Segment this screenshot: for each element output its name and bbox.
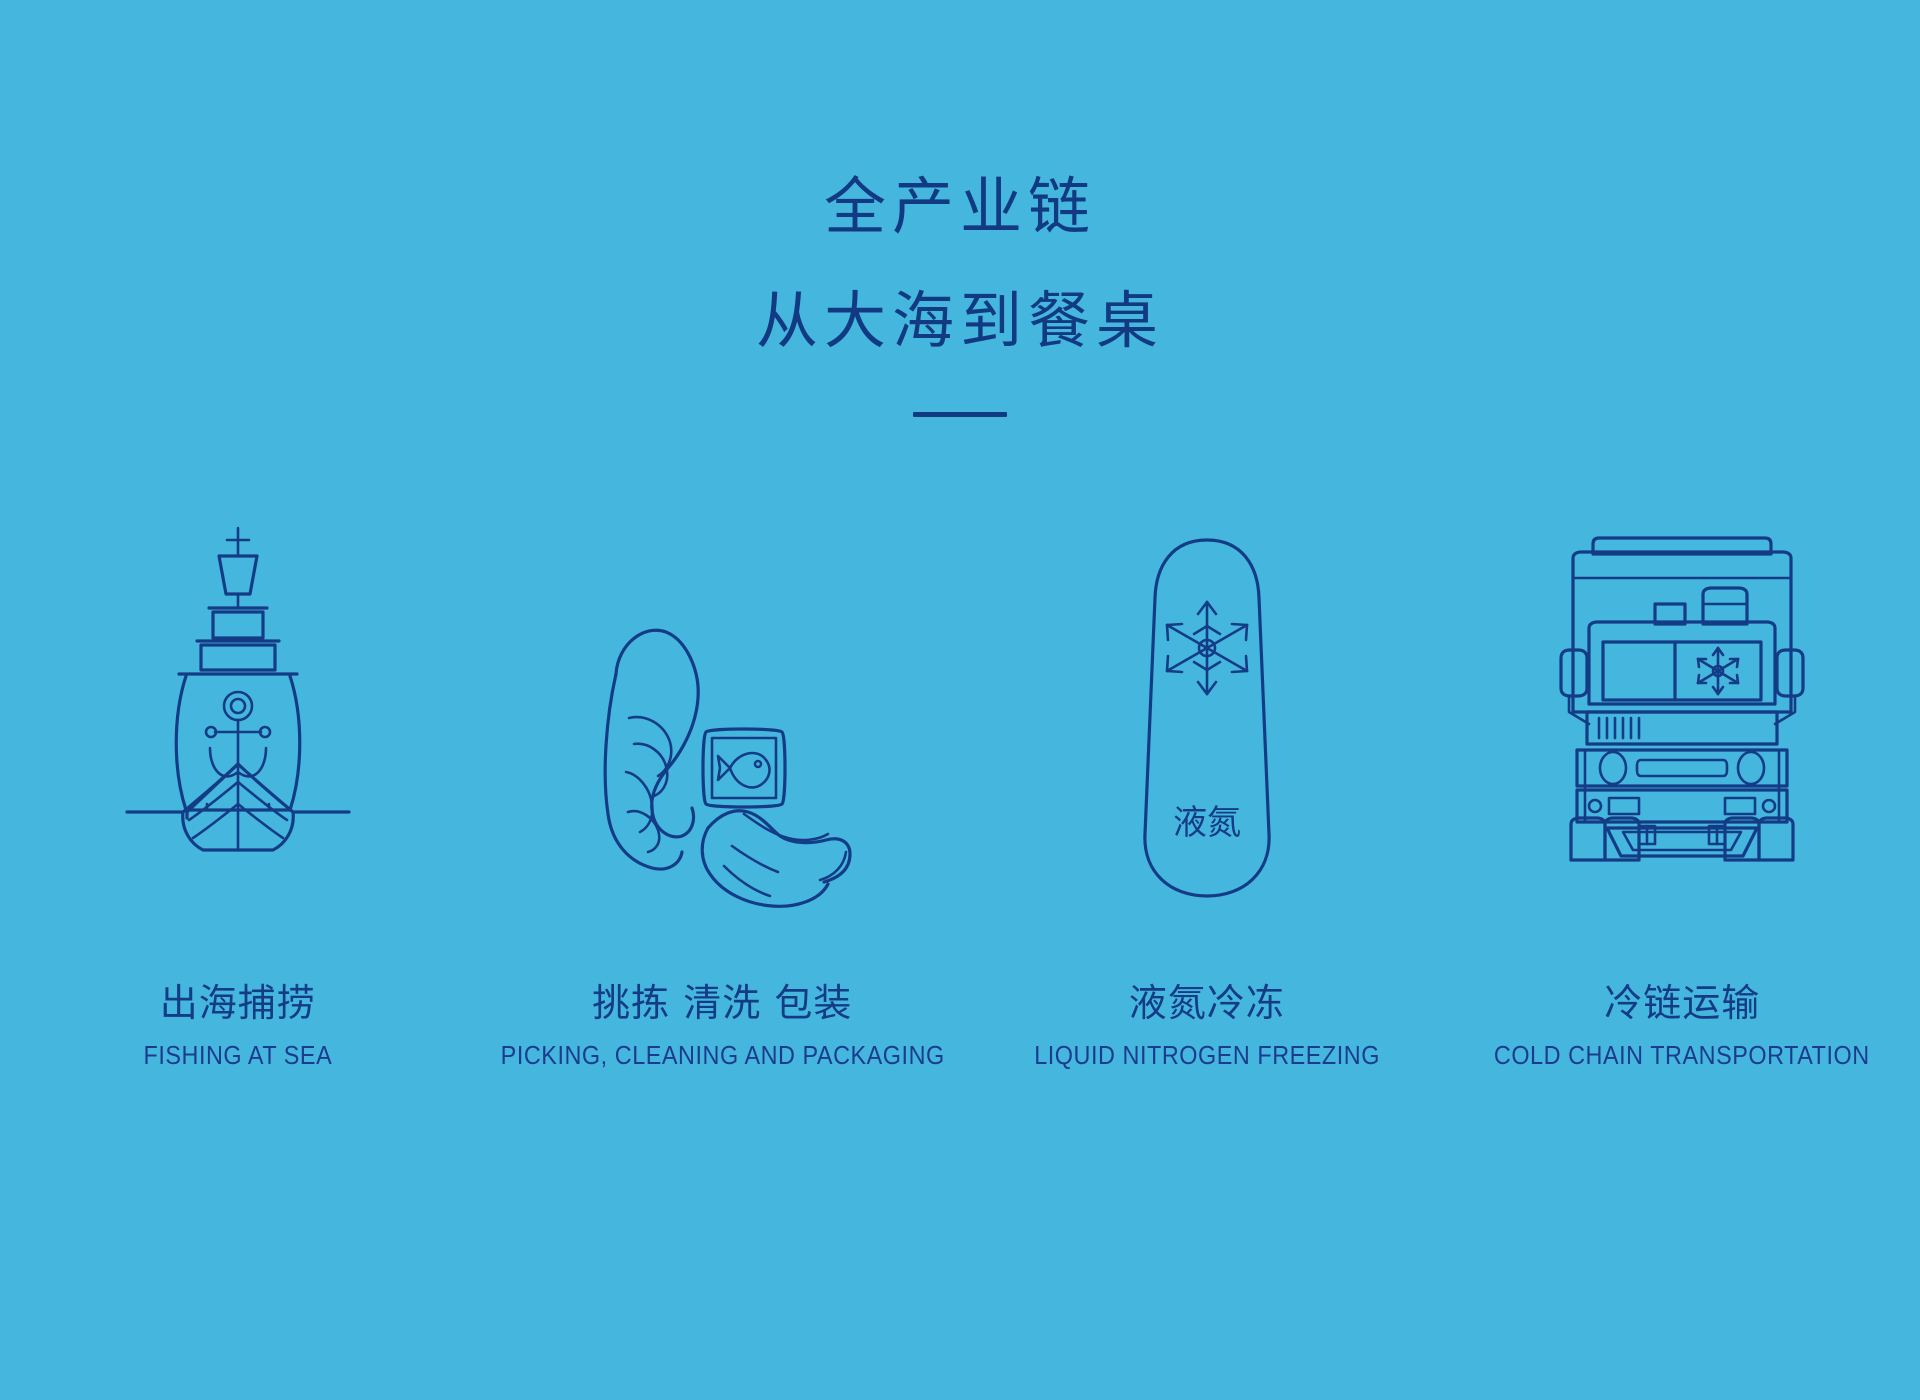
snowflake-icon bbox=[1698, 648, 1738, 694]
page-header: 全产业链 从大海到餐桌 bbox=[0, 176, 1920, 417]
page-title-line-2: 从大海到餐桌 bbox=[0, 290, 1920, 352]
process-step-label-en: PICKING, CLEANING AND PACKAGING bbox=[500, 1040, 944, 1071]
title-divider-wrap bbox=[0, 412, 1920, 417]
process-step-label-en: COLD CHAIN TRANSPORTATION bbox=[1494, 1040, 1870, 1071]
process-step-label-zh: 挑拣 清洗 包装 bbox=[592, 982, 852, 1026]
infographic-canvas: 全产业链 从大海到餐桌 bbox=[0, 0, 1920, 1400]
process-step-freezing[interactable]: 液氮 液氮冷冻 LIQUID NITROGEN FREEZING bbox=[969, 520, 1445, 1140]
process-step-label-en: LIQUID NITROGEN FREEZING bbox=[1034, 1040, 1380, 1071]
process-step-packaging[interactable]: 挑拣 清洗 包装 PICKING, CLEANING AND PACKAGING bbox=[476, 520, 969, 1140]
process-step-fishing[interactable]: 出海捕捞 FISHING AT SEA bbox=[0, 520, 476, 1140]
liquid-nitrogen-tank-icon: 液氮 bbox=[1132, 520, 1282, 940]
process-step-cold-chain[interactable]: 冷链运输 COLD CHAIN TRANSPORTATION bbox=[1444, 520, 1920, 1140]
page-title-line-1: 全产业链 bbox=[0, 176, 1920, 238]
snowflake-icon bbox=[1167, 602, 1247, 694]
process-step-label-zh: 液氮冷冻 bbox=[1129, 982, 1285, 1026]
process-columns: 出海捕捞 FISHING AT SEA bbox=[0, 520, 1920, 1140]
process-step-label-zh: 出海捕捞 bbox=[160, 982, 316, 1026]
hands-with-packaged-fish-icon bbox=[572, 520, 872, 940]
refrigerated-truck-icon bbox=[1547, 520, 1817, 940]
process-step-label-en: FISHING AT SEA bbox=[143, 1040, 332, 1071]
title-divider bbox=[913, 412, 1007, 417]
tank-label-text: 液氮 bbox=[1173, 803, 1241, 843]
fishing-boat-icon bbox=[123, 520, 353, 940]
process-step-label-zh: 冷链运输 bbox=[1604, 982, 1760, 1026]
